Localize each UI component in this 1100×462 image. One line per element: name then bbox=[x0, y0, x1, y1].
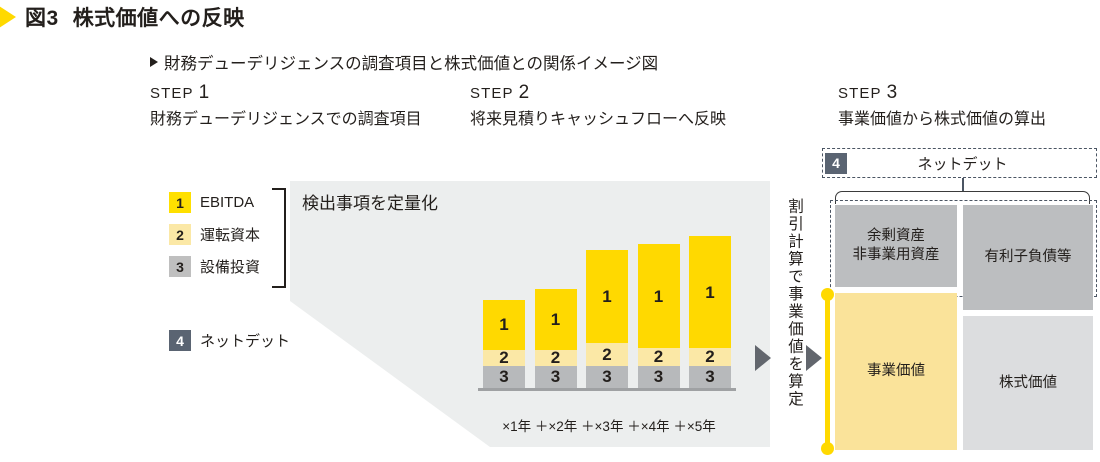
step-3-label: STEP 3 bbox=[838, 82, 897, 104]
step-1-number: 1 bbox=[199, 82, 210, 103]
discount-calculation-note: 割引計算で事業価値を算定 bbox=[780, 198, 802, 408]
legend-item-net-debt: 4 ネットデット bbox=[169, 330, 290, 351]
page-title: 図3株式価値への反映 bbox=[25, 2, 245, 32]
legend-label-4: ネットデット bbox=[200, 330, 290, 351]
measure-line bbox=[825, 293, 830, 450]
bar-segment: 3 bbox=[638, 366, 680, 388]
step-1-description: 財務デューデリジェンスでの調査項目 bbox=[150, 110, 450, 130]
bar-segment: 3 bbox=[586, 366, 628, 388]
block-interest-bearing-debt-label: 有利子負債等 bbox=[985, 248, 1072, 267]
block-interest-bearing-debt: 有利子負債等 bbox=[963, 205, 1093, 310]
block-equity-value: 株式価値 bbox=[963, 316, 1093, 450]
block-enterprise-value-label: 事業価値 bbox=[867, 362, 925, 381]
figure-number: 図3 bbox=[25, 7, 59, 30]
legend-item-ebitda: 1 EBITDA bbox=[169, 192, 254, 213]
figure-title-block: 図3株式価値への反映 bbox=[0, 2, 245, 32]
bar-segment: 1 bbox=[535, 289, 577, 350]
net-debt-badge: 4 bbox=[825, 153, 847, 174]
legend-grouping-bracket bbox=[272, 188, 286, 288]
bar-column: 123 bbox=[689, 236, 731, 388]
block-surplus-assets: 余剰資産非事業用資産 bbox=[835, 205, 957, 287]
block-enterprise-value: 事業価値 bbox=[835, 293, 957, 450]
bar-segment: 3 bbox=[689, 366, 731, 388]
legend-item-capex: 3 設備投資 bbox=[169, 256, 260, 277]
bar-segment: 1 bbox=[638, 244, 680, 348]
net-debt-label: ネットデット bbox=[847, 153, 1096, 174]
subtitle-block: 財務デューデリジェンスの調査項目と株式価値との関係イメージ図 bbox=[150, 50, 658, 74]
legend-badge-2: 2 bbox=[169, 224, 191, 245]
legend-badge-3: 3 bbox=[169, 256, 191, 277]
block-equity-value-label: 株式価値 bbox=[999, 374, 1057, 393]
bar-column: 123 bbox=[483, 300, 525, 388]
chart-x-axis-label: ×1年 ＋×2年 ＋×3年 ＋×4年 ＋×5年 bbox=[478, 415, 740, 435]
step-2-label: STEP 2 bbox=[470, 82, 529, 104]
net-debt-banner: 4 ネットデット bbox=[822, 148, 1097, 178]
legend-label-2: 運転資本 bbox=[200, 224, 260, 245]
bar-segment: 2 bbox=[586, 343, 628, 365]
flow-arrow-icon-1 bbox=[755, 345, 771, 371]
legend-label-1: EBITDA bbox=[200, 194, 254, 211]
measure-dot-bottom bbox=[821, 442, 834, 455]
bar-segment: 3 bbox=[535, 366, 577, 388]
title-arrow-icon bbox=[0, 6, 16, 28]
bar-segment: 2 bbox=[483, 350, 525, 366]
step-3-prefix: STEP bbox=[838, 85, 881, 102]
block-surplus-assets-label: 余剰資産非事業用資産 bbox=[853, 227, 940, 265]
bullet-triangle-icon bbox=[150, 57, 158, 67]
bar-segment: 1 bbox=[586, 250, 628, 343]
bar-segment: 2 bbox=[638, 348, 680, 366]
net-debt-connector-line bbox=[962, 178, 964, 192]
bar-segment: 1 bbox=[689, 236, 731, 348]
bar-column: 123 bbox=[638, 244, 680, 388]
chart-baseline-axis bbox=[478, 388, 736, 391]
figure-root: 図3株式価値への反映 財務デューデリジェンスの調査項目と株式価値との関係イメージ… bbox=[0, 0, 1100, 462]
legend-label-3: 設備投資 bbox=[200, 256, 260, 277]
legend-badge-1: 1 bbox=[169, 192, 191, 213]
bar-segment: 2 bbox=[535, 350, 577, 366]
step-1-label: STEP 1 bbox=[150, 82, 209, 104]
step-1-prefix: STEP bbox=[150, 85, 193, 102]
step-3-description: 事業価値から株式価値の算出 bbox=[838, 110, 1100, 130]
bar-column: 123 bbox=[586, 250, 628, 388]
bar-segment: 1 bbox=[483, 300, 525, 350]
figure-subtitle: 財務デューデリジェンスの調査項目と株式価値との関係イメージ図 bbox=[164, 50, 658, 74]
step-2-prefix: STEP bbox=[470, 85, 513, 102]
figure-title-text: 株式価値への反映 bbox=[73, 7, 245, 30]
step2-panel-caption: 検出事項を定量化 bbox=[302, 189, 438, 214]
bar-segment: 3 bbox=[483, 366, 525, 388]
legend-item-working-capital: 2 運転資本 bbox=[169, 224, 260, 245]
legend-badge-4: 4 bbox=[169, 330, 191, 351]
stacked-bar-chart: 123123123123123 bbox=[483, 228, 733, 388]
step-3-number: 3 bbox=[887, 82, 898, 103]
enterprise-value-measure-line bbox=[820, 288, 834, 455]
step-2-number: 2 bbox=[519, 82, 530, 103]
bar-segment: 2 bbox=[689, 348, 731, 366]
bar-column: 123 bbox=[535, 289, 577, 388]
step-2-description: 将来見積りキャッシュフローへ反映 bbox=[470, 110, 800, 130]
